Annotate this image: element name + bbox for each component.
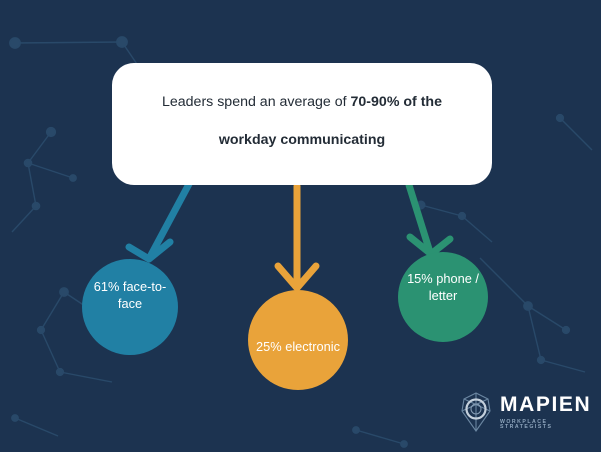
card-text-regular: Leaders spend an average of [162,94,351,110]
card-line-1: Leaders spend an average of 70-90% of th… [162,94,442,112]
bubble-electronic: 25% electronic [248,290,348,390]
arrow-orange-icon [278,186,316,288]
logo-tagline: WORKPLACE STRATEGISTS [500,420,591,430]
brand-logo: MAPIEN WORKPLACE STRATEGISTS [457,388,589,436]
card-text-bold-2: workday communicating [219,132,385,148]
arrow-green-icon [409,185,450,254]
mapien-pin-icon [457,390,495,434]
card-line-2: workday communicating [219,132,385,150]
logo-wordmark: MAPIEN [500,394,591,415]
card-text-bold-1: 70-90% of the [351,94,442,110]
message-card: Leaders spend an average of 70-90% of th… [112,63,492,185]
arrow-blue-icon [129,184,189,259]
infographic-slide: Leaders spend an average of 70-90% of th… [0,0,601,452]
bubble-electronic-label: 25% electronic [250,339,346,356]
bubble-face-to-face: 61% face-to-face [82,259,178,355]
bubble-face-to-face-label: 61% face-to-face [82,279,178,313]
bubble-phone-letter-label: 15% phone / letter [398,271,488,305]
logo-text-block: MAPIEN WORKPLACE STRATEGISTS [500,394,591,430]
bubble-phone-letter: 15% phone / letter [398,252,488,342]
